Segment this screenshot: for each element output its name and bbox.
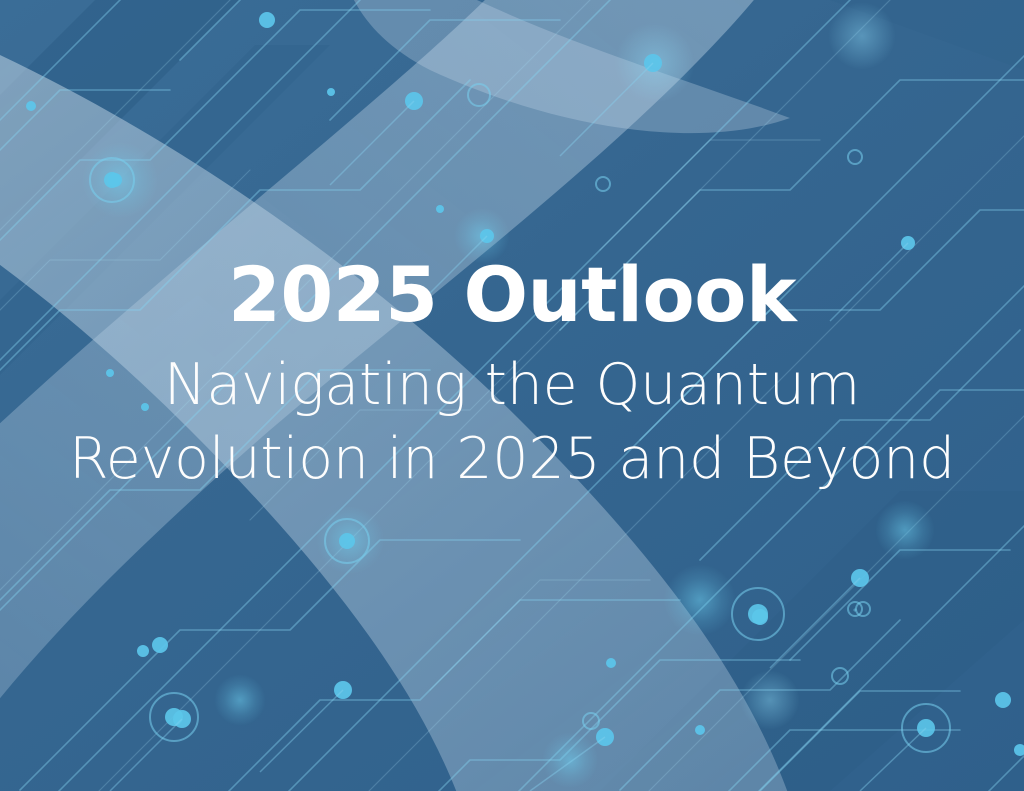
title-slide: 2025 Outlook Navigating the Quantum Revo… — [0, 0, 1024, 791]
background-graphic — [0, 0, 1024, 791]
